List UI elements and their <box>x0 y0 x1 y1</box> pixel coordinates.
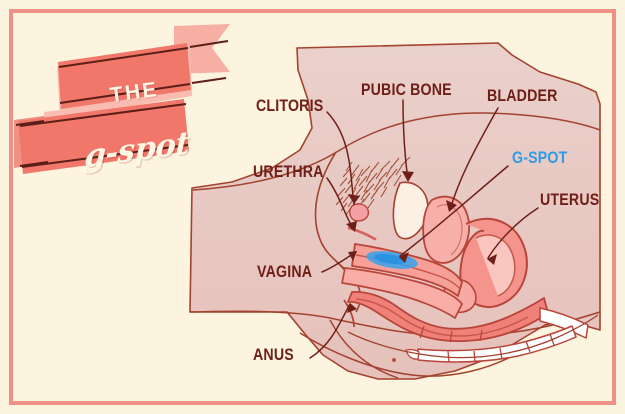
infographic-canvas: THE g-spot CLITORIS PUBIC BONE BLADDER U… <box>0 0 625 414</box>
label-bladder: BLADDER <box>487 87 558 106</box>
coccyx-dot <box>392 358 396 362</box>
label-vagina: VAGINA <box>257 263 312 282</box>
label-pubic-bone: PUBIC BONE <box>361 81 452 100</box>
ribbon-tail-upper-line-bottom <box>192 78 226 83</box>
label-uterus: UTERUS <box>540 191 599 210</box>
label-clitoris: CLITORIS <box>256 97 323 116</box>
label-urethra: URETHRA <box>253 163 324 182</box>
clitoris <box>350 204 369 221</box>
label-anus: ANUS <box>253 346 294 365</box>
title-ribbon-banner: THE g-spot <box>14 24 244 194</box>
label-g-spot: G-SPOT <box>512 149 567 168</box>
